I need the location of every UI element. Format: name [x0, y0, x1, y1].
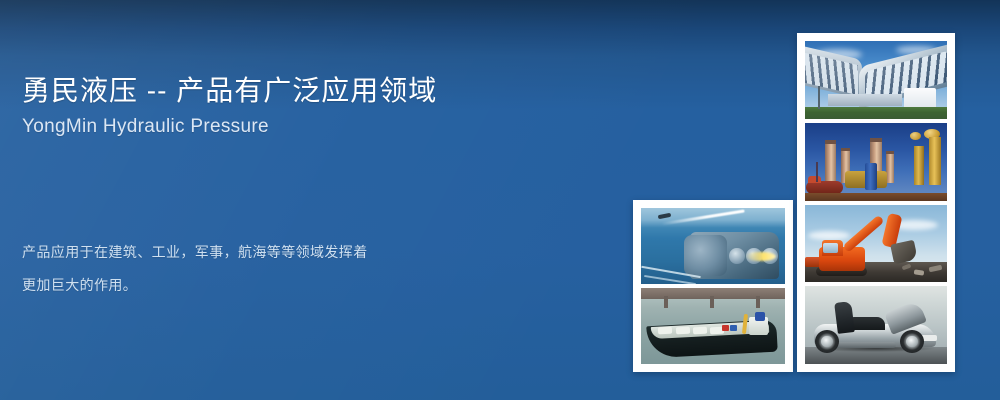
modern-architecture-photo: [805, 41, 947, 119]
description-line-2: 更加巨大的作用。: [22, 269, 492, 302]
page-title: 勇民液压 -- 产品有广泛应用领域: [22, 72, 622, 110]
page-subtitle: YongMin Hydraulic Pressure: [22, 114, 622, 140]
concept-car-photo: [805, 286, 947, 364]
cargo-ship-photo: [641, 288, 785, 364]
hero-banner: 勇民液压 -- 产品有广泛应用领域 YongMin Hydraulic Pres…: [0, 0, 1000, 400]
naval-missile-launch-photo: [641, 208, 785, 284]
banner-copy-block: 勇民液压 -- 产品有广泛应用领域 YongMin Hydraulic Pres…: [22, 72, 622, 140]
gallery-frame-right: [797, 33, 955, 372]
banner-description: 产品应用于在建筑、工业，军事，航海等等领域发挥着 更加巨大的作用。: [22, 236, 492, 302]
gallery-frame-left: [633, 200, 793, 372]
description-line-1: 产品应用于在建筑、工业，军事，航海等等领域发挥着: [22, 236, 492, 269]
excavator-photo: [805, 205, 947, 283]
refinery-plant-photo: [805, 123, 947, 201]
